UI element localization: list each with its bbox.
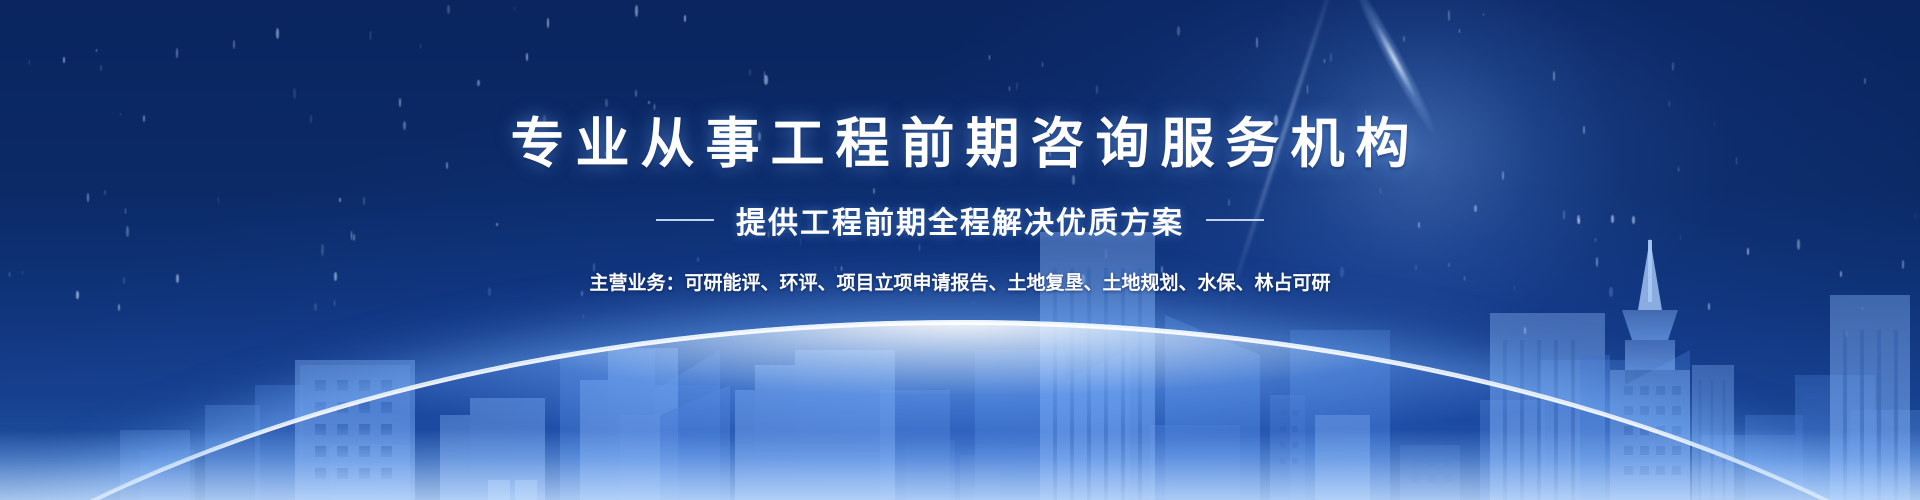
hero-banner: 专业从事工程前期咨询服务机构 提供工程前期全程解决优质方案 主营业务：可研能评、… bbox=[0, 0, 1920, 500]
page-title: 专业从事工程前期咨询服务机构 bbox=[500, 112, 1421, 176]
subtitle-row: 提供工程前期全程解决优质方案 bbox=[656, 198, 1264, 242]
banner-content: 专业从事工程前期咨询服务机构 提供工程前期全程解决优质方案 主营业务：可研能评、… bbox=[0, 0, 1920, 500]
left-dash-icon bbox=[656, 219, 714, 221]
services-line: 主营业务：可研能评、环评、项目立项申请报告、土地复垦、土地规划、水保、林占可研 bbox=[589, 268, 1330, 295]
page-subtitle: 提供工程前期全程解决优质方案 bbox=[736, 198, 1184, 242]
right-dash-icon bbox=[1206, 219, 1264, 221]
